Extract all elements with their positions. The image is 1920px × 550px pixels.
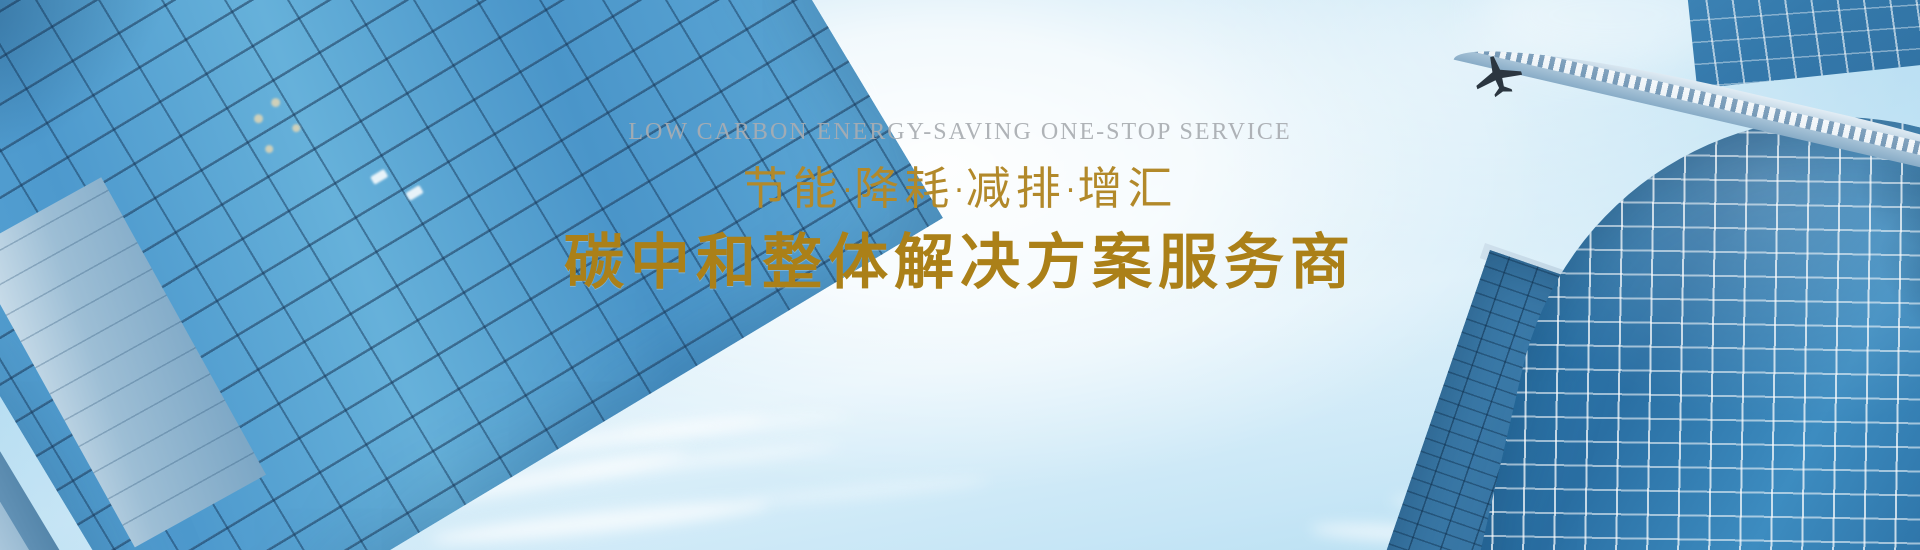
airplane-icon	[1468, 52, 1526, 98]
english-tagline: LOW CARBON ENERGY-SAVING ONE-STOP SERVIC…	[0, 120, 1920, 144]
hero-copy-block: LOW CARBON ENERGY-SAVING ONE-STOP SERVIC…	[0, 120, 1920, 293]
subtitle-separator: ·	[954, 173, 966, 208]
subtitle-line: 节能·降耗·减排·增汇	[0, 166, 1920, 211]
subtitle-part-3: 减排	[966, 162, 1066, 215]
headline: 碳中和整体解决方案服务商	[0, 233, 1920, 293]
subtitle-separator: ·	[1066, 173, 1078, 208]
subtitle-part-2: 降耗	[854, 162, 954, 215]
subtitle-part-1: 节能	[743, 162, 843, 215]
subtitle-part-4: 增汇	[1077, 162, 1177, 215]
hero-banner: LOW CARBON ENERGY-SAVING ONE-STOP SERVIC…	[0, 0, 1920, 550]
subtitle-separator: ·	[843, 173, 855, 208]
